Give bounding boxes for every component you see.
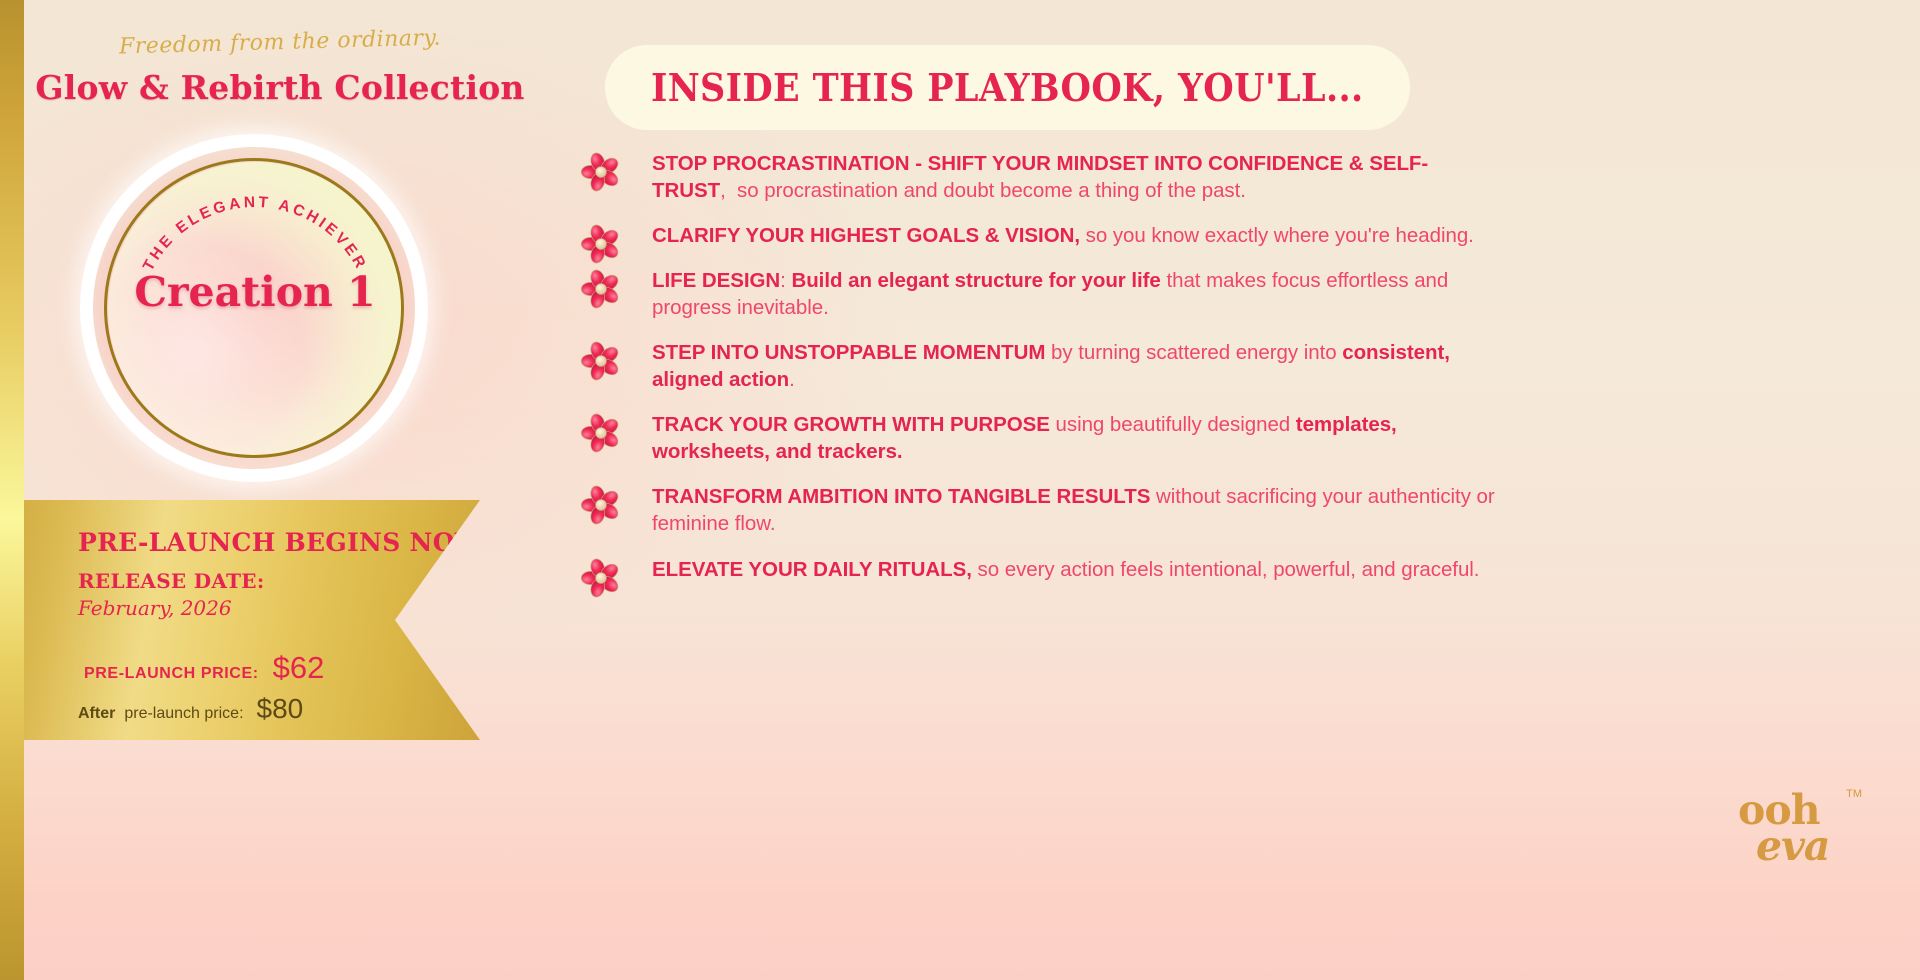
benefit-text: LIFE DESIGN: Build an elegant structure … — [652, 267, 1500, 321]
benefit-item: TRANSFORM AMBITION INTO TANGIBLE RESULTS… — [580, 483, 1500, 537]
poster-canvas: Freedom from the ordinary. Glow & Rebirt… — [0, 0, 1920, 980]
benefit-text: STOP PROCRASTINATION - SHIFT YOUR MINDSE… — [652, 150, 1500, 204]
benefit-text: CLARIFY YOUR HIGHEST GOALS & VISION, so … — [652, 222, 1500, 249]
flower-bullet-icon — [580, 223, 622, 265]
flower-bullet-icon — [580, 557, 622, 599]
trademark-icon: TM — [1846, 788, 1862, 800]
ribbon-content: PRE-LAUNCH BEGINS NOW RELEASE DATE: Febr… — [78, 528, 458, 725]
benefit-item: STEP INTO UNSTOPPABLE MOMENTUM by turnin… — [580, 339, 1500, 393]
brand-logo: ooh eva TM — [1738, 792, 1858, 892]
flower-bullet-icon — [580, 484, 622, 526]
after-price-row: After pre-launch price: $80 — [78, 693, 458, 725]
product-emblem: THE ELEGANT ACHIEVER Creation 1 — [38, 118, 458, 488]
benefit-item: CLARIFY YOUR HIGHEST GOALS & VISION, so … — [580, 222, 1500, 249]
after-price-label: pre-launch price: — [124, 705, 243, 723]
release-date-label: RELEASE DATE: — [78, 569, 458, 593]
benefit-text: TRACK YOUR GROWTH WITH PURPOSE using bea… — [652, 411, 1500, 465]
benefit-text: TRANSFORM AMBITION INTO TANGIBLE RESULTS… — [652, 483, 1500, 537]
emblem-arc-label: THE ELEGANT ACHIEVER — [140, 194, 370, 274]
prelaunch-price-value: $62 — [273, 650, 325, 686]
right-panel: INSIDE THIS PLAYBOOK, YOU'LL... — [580, 0, 1920, 980]
benefit-text: STEP INTO UNSTOPPABLE MOMENTUM by turnin… — [652, 339, 1500, 393]
benefit-text: ELEVATE YOUR DAILY RITUALS, so every act… — [652, 556, 1500, 583]
after-price-value: $80 — [257, 693, 304, 725]
left-panel: Freedom from the ordinary. Glow & Rebirt… — [0, 0, 580, 980]
flower-bullet-icon — [580, 412, 622, 454]
tagline: Freedom from the ordinary. — [0, 22, 560, 63]
flower-bullet-icon — [580, 151, 622, 193]
headline-text: INSIDE THIS PLAYBOOK, YOU'LL... — [651, 65, 1364, 110]
release-date-value: February, 2026 — [78, 596, 458, 620]
svg-text:THE ELEGANT ACHIEVER: THE ELEGANT ACHIEVER — [140, 194, 370, 274]
benefit-item: TRACK YOUR GROWTH WITH PURPOSE using bea… — [580, 411, 1500, 465]
benefit-item: ELEVATE YOUR DAILY RITUALS, so every act… — [580, 556, 1500, 583]
creation-label: Creation 1 — [108, 268, 402, 316]
flower-bullet-icon — [580, 268, 622, 310]
benefit-item: LIFE DESIGN: Build an elegant structure … — [580, 267, 1500, 321]
prelaunch-price-label: PRE-LAUNCH PRICE: — [84, 665, 259, 683]
prelaunch-ribbon-banner: PRE-LAUNCH BEGINS NOW RELEASE DATE: Febr… — [0, 500, 480, 740]
brand-logo-line2: eva — [1756, 828, 1858, 864]
benefit-list: STOP PROCRASTINATION - SHIFT YOUR MINDSE… — [580, 150, 1500, 601]
prelaunch-heading: PRE-LAUNCH BEGINS NOW — [78, 528, 458, 557]
prelaunch-price-row: PRE-LAUNCH PRICE: $62 — [78, 650, 458, 686]
left-gold-edge-strip — [0, 0, 24, 980]
after-price-prefix: After — [78, 705, 115, 723]
collection-title: Glow & Rebirth Collection — [0, 68, 560, 107]
headline-pill: INSIDE THIS PLAYBOOK, YOU'LL... — [605, 45, 1410, 130]
benefit-item: STOP PROCRASTINATION - SHIFT YOUR MINDSE… — [580, 150, 1500, 204]
flower-bullet-icon — [580, 340, 622, 382]
